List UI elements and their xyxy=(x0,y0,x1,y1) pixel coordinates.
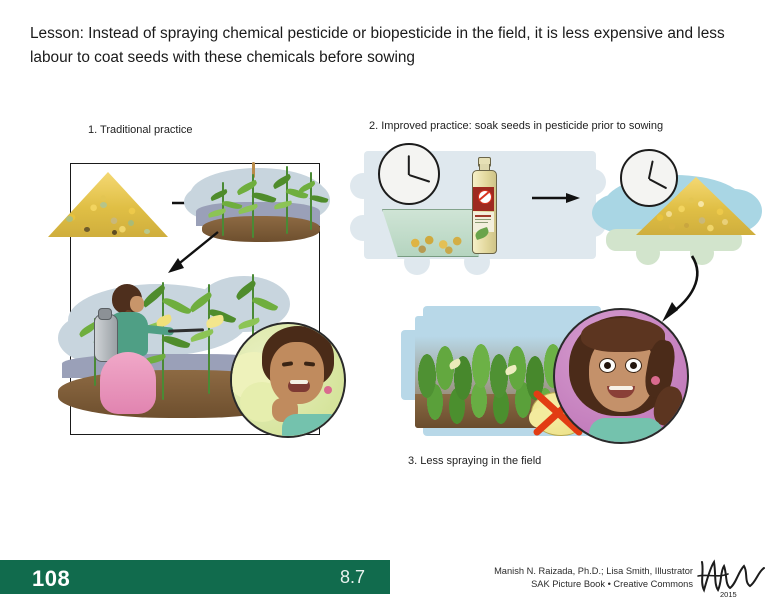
panel-3-caption: 3. Less spraying in the field xyxy=(408,455,541,467)
arrow-right-icon-2 xyxy=(530,187,582,209)
panel-3-less-spraying xyxy=(405,300,695,450)
slide-page: Lesson: Instead of spraying chemical pes… xyxy=(0,0,776,600)
credit-line-1: Manish N. Raizada, Ph.D.; Lisa Smith, Il… xyxy=(468,565,693,578)
signature-year: 2015 xyxy=(720,590,737,599)
page-number: 108 xyxy=(32,566,70,592)
page-title: Lesson: Instead of spraying chemical pes… xyxy=(30,22,754,70)
farmer-with-sprayer xyxy=(86,282,176,414)
panel-1-traditional-practice xyxy=(48,150,348,450)
coughing-woman-inset xyxy=(230,322,346,438)
pesticide-bottle xyxy=(470,157,496,253)
treated-seed-pile xyxy=(636,177,756,235)
panel-2-caption: 2. Improved practice: soak seeds in pest… xyxy=(369,120,663,132)
seed-pile xyxy=(48,172,168,237)
clock-icon xyxy=(378,143,440,205)
credits-block: Manish N. Raizada, Ph.D.; Lisa Smith, Il… xyxy=(468,565,693,592)
section-number: 8.7 xyxy=(340,567,365,588)
smiling-woman-inset xyxy=(553,308,689,444)
credit-line-2: SAK Picture Book • Creative Commons xyxy=(468,578,693,591)
illustrator-signature: 2015 xyxy=(694,556,772,600)
panel-1-caption: 1. Traditional practice xyxy=(88,124,193,136)
